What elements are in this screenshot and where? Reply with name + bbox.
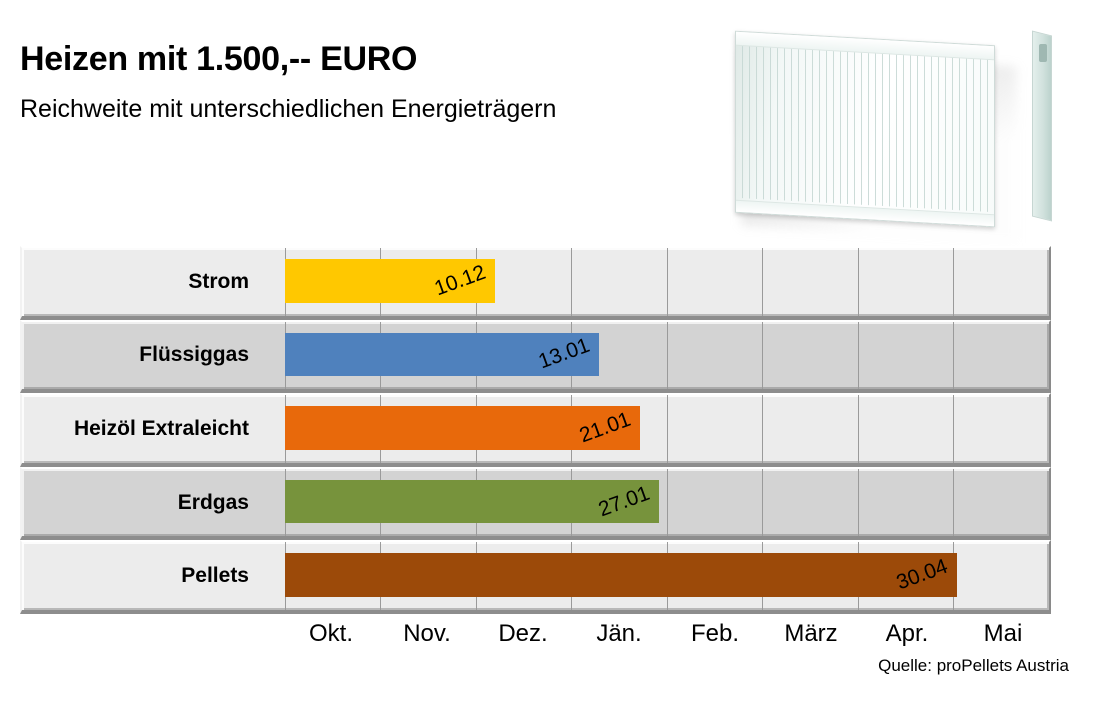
chart-row-pellets: Pellets 30.04 xyxy=(20,540,1051,614)
row-label-pellets: Pellets xyxy=(22,542,267,610)
page-title: Heizen mit 1.500,-- EURO xyxy=(20,38,740,80)
bar-value-pellets: 30.04 xyxy=(894,555,952,596)
row-label-erdgas: Erdgas xyxy=(22,469,267,537)
bar-value-strom: 10.12 xyxy=(432,261,490,302)
x-tick-okt: Okt. xyxy=(283,618,379,652)
radiator-valve-icon xyxy=(1039,44,1047,62)
x-tick-apr: Apr. xyxy=(859,618,955,652)
x-tick-nov: Nov. xyxy=(379,618,475,652)
radiator-body xyxy=(735,31,995,228)
x-tick-jaen: Jän. xyxy=(571,618,667,652)
radiator-fins xyxy=(742,46,988,212)
bar-pellets[interactable]: 30.04 xyxy=(285,553,957,597)
header-block: Heizen mit 1.500,-- EURO Reichweite mit … xyxy=(20,38,740,126)
row-plot-erdgas: 27.01 xyxy=(285,469,1049,537)
chart-row-strom: Strom 10.12 xyxy=(20,246,1051,320)
bar-value-fluessiggas: 13.01 xyxy=(536,334,594,375)
x-tick-feb: Feb. xyxy=(667,618,763,652)
chart-row-heizoel: Heizöl Extraleicht 21.01 xyxy=(20,393,1051,467)
bar-chart: Strom 10.12 Flüssiggas 13 xyxy=(20,246,1051,614)
radiator-icon xyxy=(735,30,1035,235)
x-tick-dez: Dez. xyxy=(475,618,571,652)
bar-erdgas[interactable]: 27.01 xyxy=(285,480,659,524)
page-subtitle: Reichweite mit unterschiedlichen Energie… xyxy=(20,92,740,126)
row-plot-heizoel: 21.01 xyxy=(285,395,1049,463)
chart-row-fluessiggas: Flüssiggas 13.01 xyxy=(20,320,1051,394)
bar-value-heizoel: 21.01 xyxy=(577,408,635,449)
x-axis: Okt. Nov. Dez. Jän. Feb. März Apr. Mai xyxy=(283,618,1051,652)
row-plot-pellets: 30.04 xyxy=(285,542,1049,610)
bar-fluessiggas[interactable]: 13.01 xyxy=(285,333,599,377)
chart-row-erdgas: Erdgas 27.01 xyxy=(20,467,1051,541)
x-tick-mai: Mai xyxy=(955,618,1051,652)
x-tick-maerz: März xyxy=(763,618,859,652)
bar-strom[interactable]: 10.12 xyxy=(285,259,495,303)
source-note: Quelle: proPellets Austria xyxy=(878,656,1069,676)
bar-value-erdgas: 27.01 xyxy=(596,481,654,522)
bar-heizoel[interactable]: 21.01 xyxy=(285,406,640,450)
row-plot-fluessiggas: 13.01 xyxy=(285,322,1049,390)
row-label-strom: Strom xyxy=(22,248,267,316)
row-label-heizoel: Heizöl Extraleicht xyxy=(22,395,267,463)
row-plot-strom: 10.12 xyxy=(285,248,1049,316)
row-label-fluessiggas: Flüssiggas xyxy=(22,322,267,390)
